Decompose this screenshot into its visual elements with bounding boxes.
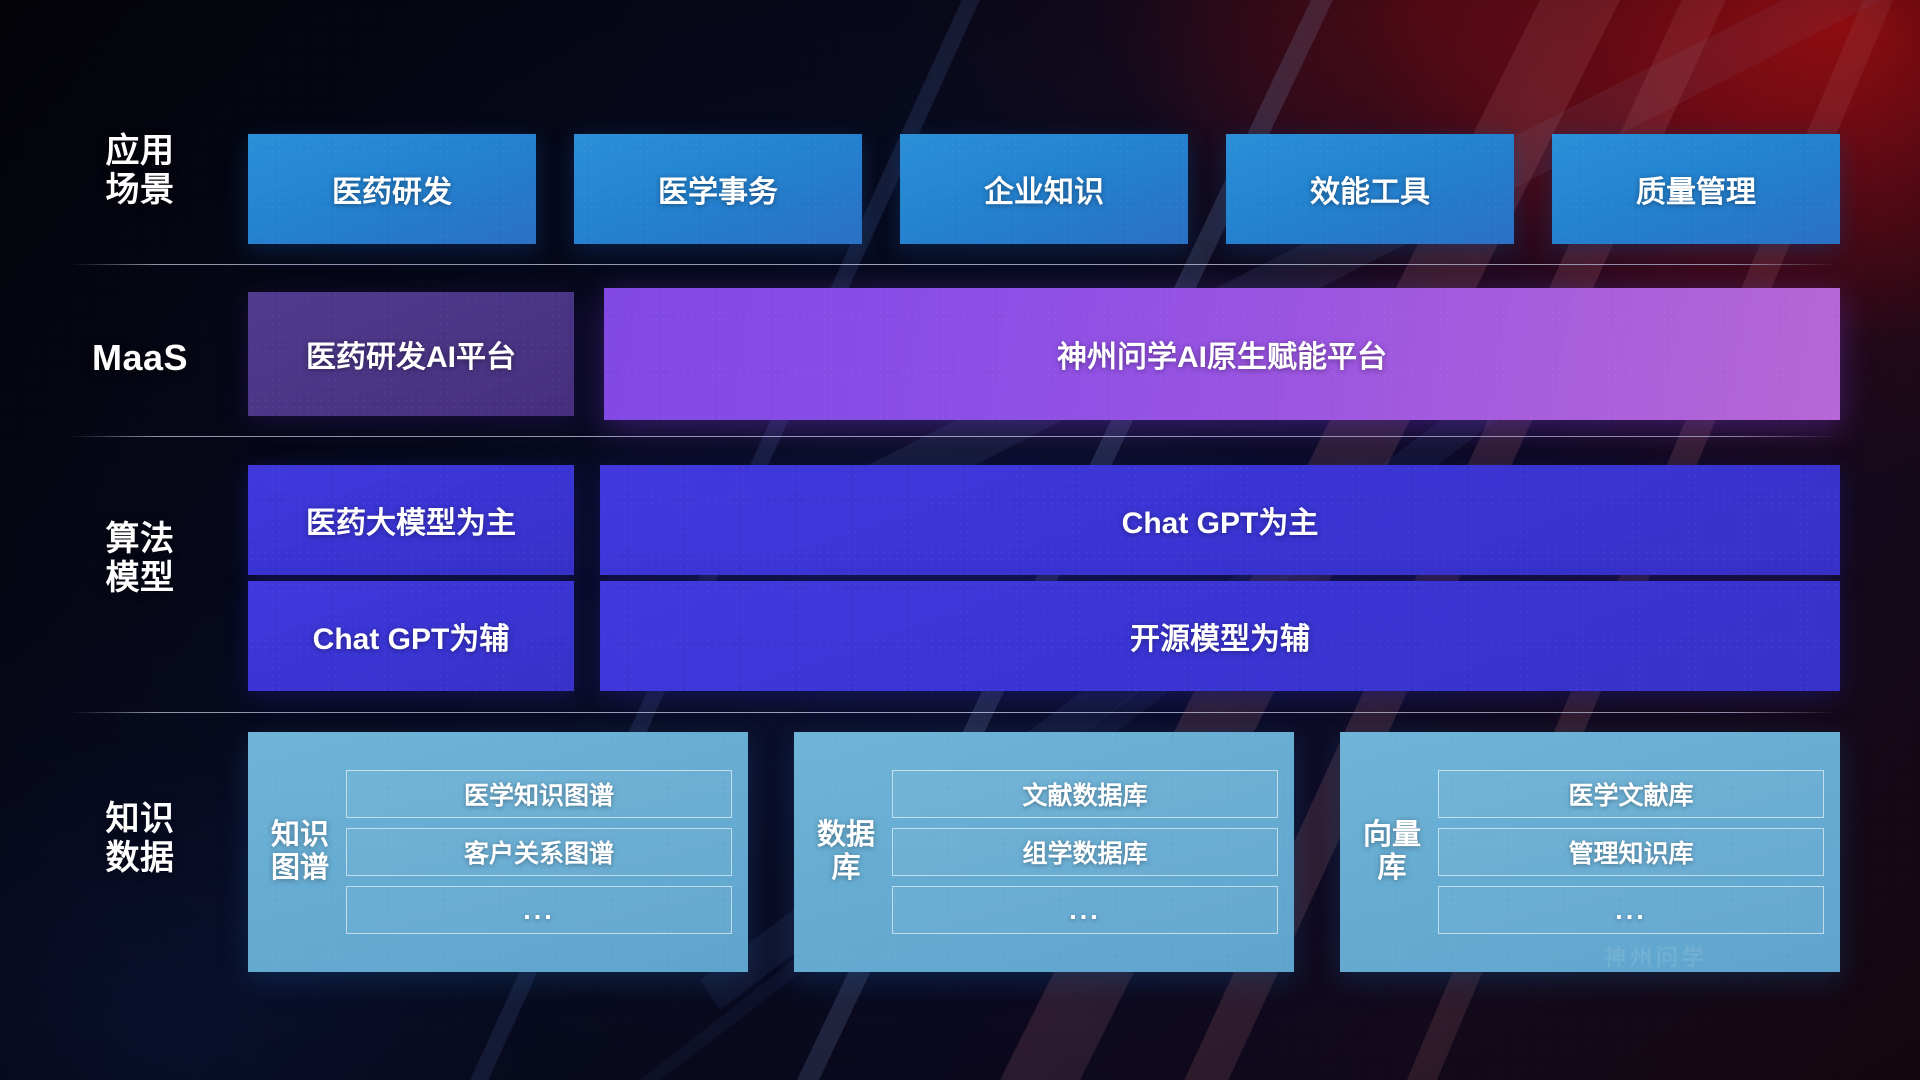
app-box-enterprise-knowledge[interactable]: 企业知识 <box>900 134 1188 244</box>
knowledge-item-more[interactable]: ... <box>892 886 1278 934</box>
knowledge-item[interactable]: 医学文献库 <box>1438 770 1824 818</box>
knowledge-item-label: ... <box>523 895 555 926</box>
row-label-algorithm-models: 算法 模型 <box>70 520 210 598</box>
app-box-label: 效能工具 <box>1310 167 1430 211</box>
app-box-label: 质量管理 <box>1636 167 1756 211</box>
knowledge-item[interactable]: 客户关系图谱 <box>346 828 732 876</box>
knowledge-item[interactable]: 医学知识图谱 <box>346 770 732 818</box>
knowledge-item[interactable]: 文献数据库 <box>892 770 1278 818</box>
row-label-knowledge-data: 知识 数据 <box>70 800 210 878</box>
knowledge-panel-label: 向量库 <box>1360 819 1424 885</box>
algo-box-medicine-llm-primary[interactable]: 医药大模型为主 <box>248 465 574 575</box>
algo-box-opensource-secondary[interactable]: 开源模型为辅 <box>600 581 1840 691</box>
knowledge-item-label: 医学文献库 <box>1568 776 1693 812</box>
maas-box-shenzhou-wenxue-platform[interactable]: 神州问学AI原生赋能平台 <box>604 288 1840 420</box>
algo-box-label: Chat GPT为辅 <box>313 614 510 658</box>
row-label-application-scenarios: 应用 场景 <box>70 132 210 210</box>
knowledge-item[interactable]: 组学数据库 <box>892 828 1278 876</box>
knowledge-item[interactable]: 管理知识库 <box>1438 828 1824 876</box>
knowledge-item-more[interactable]: ... <box>1438 886 1824 934</box>
knowledge-panel-knowledge-graph[interactable]: 知识图谱 医学知识图谱 客户关系图谱 ... <box>248 732 748 972</box>
divider-1 <box>70 264 1838 265</box>
knowledge-panel-vector-store[interactable]: 向量库 医学文献库 管理知识库 ... <box>1340 732 1840 972</box>
divider-2 <box>70 436 1838 437</box>
knowledge-item-label: ... <box>1069 895 1101 926</box>
watermark: 神州问学 <box>1604 940 1708 972</box>
knowledge-item-label: 管理知识库 <box>1568 834 1693 870</box>
knowledge-item-more[interactable]: ... <box>346 886 732 934</box>
knowledge-panel-label: 数据库 <box>814 819 878 885</box>
maas-box-medicine-ai-platform[interactable]: 医药研发AI平台 <box>248 292 574 416</box>
app-box-medical-affairs[interactable]: 医学事务 <box>574 134 862 244</box>
knowledge-panel-items: 医学知识图谱 客户关系图谱 ... <box>346 770 732 934</box>
algo-box-label: 医药大模型为主 <box>306 498 516 542</box>
knowledge-item-label: 文献数据库 <box>1022 776 1147 812</box>
knowledge-item-label: ... <box>1615 895 1647 926</box>
app-box-efficiency-tools[interactable]: 效能工具 <box>1226 134 1514 244</box>
app-box-label: 医药研发 <box>332 167 452 211</box>
app-box-quality-management[interactable]: 质量管理 <box>1552 134 1840 244</box>
app-box-medicine-rd[interactable]: 医药研发 <box>248 134 536 244</box>
knowledge-panel-items: 文献数据库 组学数据库 ... <box>892 770 1278 934</box>
algo-box-label: 开源模型为辅 <box>1130 614 1310 658</box>
row-label-maas: MaaS <box>70 337 210 378</box>
knowledge-panel-label: 知识图谱 <box>268 819 332 885</box>
algo-box-chatgpt-primary[interactable]: Chat GPT为主 <box>600 465 1840 575</box>
maas-box-label: 医药研发AI平台 <box>306 332 516 376</box>
knowledge-panel-items: 医学文献库 管理知识库 ... <box>1438 770 1824 934</box>
knowledge-item-label: 组学数据库 <box>1022 834 1147 870</box>
knowledge-item-label: 客户关系图谱 <box>464 834 614 870</box>
app-box-label: 医学事务 <box>658 167 778 211</box>
algo-box-label: Chat GPT为主 <box>1122 498 1319 542</box>
app-box-label: 企业知识 <box>984 167 1104 211</box>
knowledge-item-label: 医学知识图谱 <box>464 776 614 812</box>
knowledge-panel-database[interactable]: 数据库 文献数据库 组学数据库 ... <box>794 732 1294 972</box>
maas-box-label: 神州问学AI原生赋能平台 <box>1057 332 1387 376</box>
algo-box-chatgpt-secondary[interactable]: Chat GPT为辅 <box>248 581 574 691</box>
divider-3 <box>70 712 1838 713</box>
